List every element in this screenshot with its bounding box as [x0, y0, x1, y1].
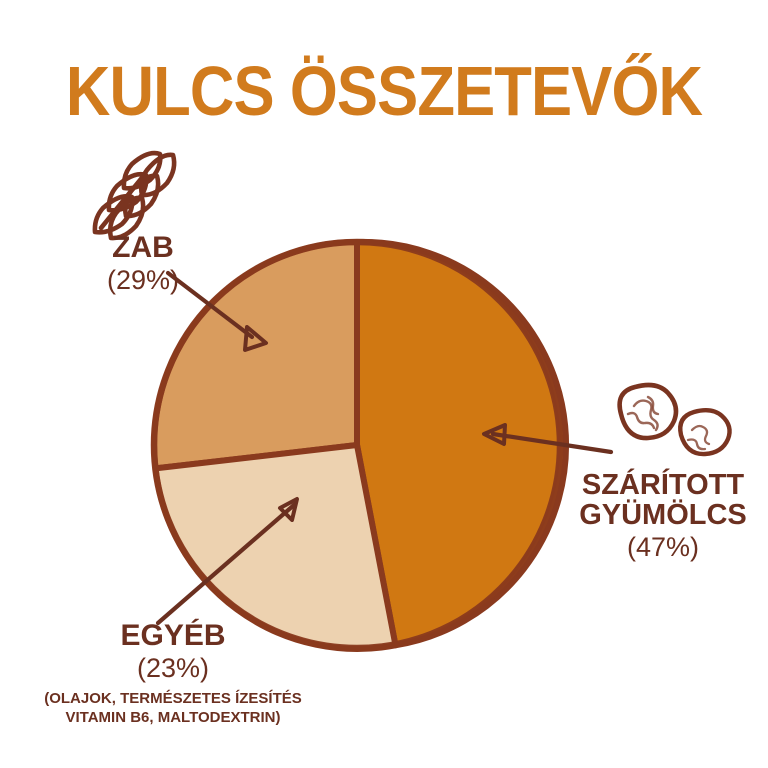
raisin-small	[680, 410, 729, 454]
dried-fruit-label-name-line1: SZÁRÍTOTT	[565, 470, 761, 500]
raisins-icon	[620, 385, 730, 454]
other-label-name: EGYÉB	[18, 620, 328, 652]
oats-label-percent: (29%)	[58, 266, 228, 294]
dried-fruit-label-name-line2: GYÜMÖLCS	[565, 500, 761, 530]
raisin-large	[620, 385, 676, 438]
ingredients-infographic: KULCS ÖSSZETEVŐK	[0, 0, 768, 768]
dried-fruit-label-percent: (47%)	[565, 533, 761, 561]
other-label-percent: (23%)	[18, 654, 328, 682]
callout-label-other: EGYÉB (23%) (OLAJOK, TERMÉSZETES ÍZESÍTÉ…	[18, 620, 328, 727]
other-label-subtext: (OLAJOK, TERMÉSZETES ÍZESÍTÉS VITAMIN B6…	[18, 690, 328, 728]
callout-label-oats: ZAB (29%)	[58, 232, 228, 294]
callout-label-dried-fruit: SZÁRÍTOTT GYÜMÖLCS (47%)	[565, 470, 761, 561]
wheat-sprig-icon	[95, 153, 174, 238]
oats-label-name: ZAB	[58, 232, 228, 264]
pie-slice-dried-fruit[interactable]	[357, 242, 566, 645]
